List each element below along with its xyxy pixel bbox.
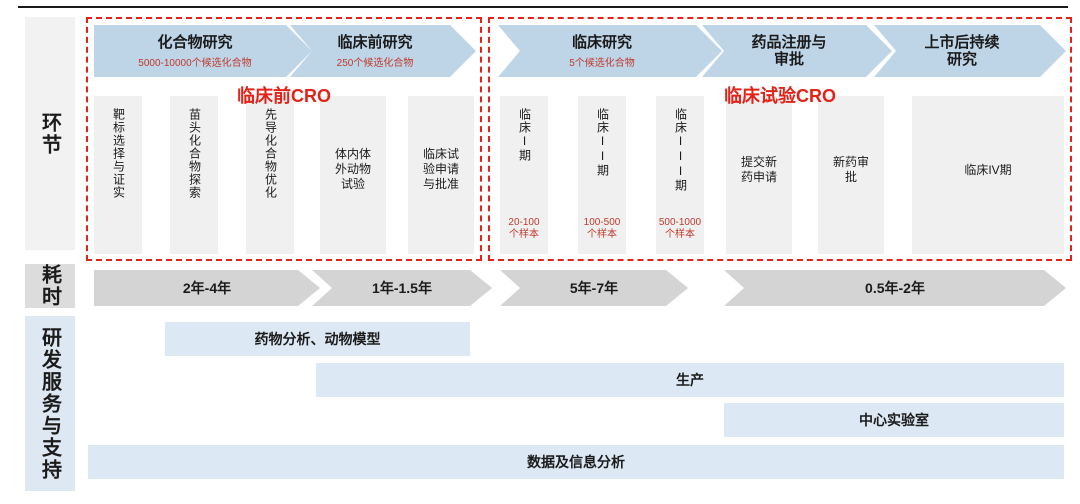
row-label-stages-text: 环节 <box>36 112 65 156</box>
service-bar-manufacturing[interactable]: 生产 <box>316 363 1064 397</box>
step-phase-3-sample-note: 500-1000 个样本 <box>648 217 712 241</box>
step-lead-optimization[interactable]: 先导化合物优化 <box>246 108 294 248</box>
step-phase-1[interactable]: 临床I期 <box>500 108 548 162</box>
top-divider-line <box>18 6 1068 8</box>
step-animal-testing[interactable]: 体内体 外动物 试验 <box>320 147 386 192</box>
step-phase-2-sample-note: 100-500 个样本 <box>572 217 632 241</box>
stage-title-preclinical-research: 临床前研究 <box>337 34 412 51</box>
step-animal-testing-line3: 试验 <box>341 177 365 191</box>
service-label-data-analysis: 数据及信息分析 <box>527 452 625 472</box>
step-nda-approval[interactable]: 新药审 批 <box>818 155 884 185</box>
step-phase-1-label: 临床I期 <box>517 108 532 162</box>
process-diagram: 环节 耗时 研发服务与支持 化合物研究 5000-10000个候选化合物 临床前… <box>0 0 1080 504</box>
stage-arrow-post-market[interactable]: 上市后持续 研究 <box>874 25 1066 77</box>
duration-arrow-preclinical[interactable]: 1年-1.5年 <box>312 270 492 306</box>
duration-arrow-clinical[interactable]: 5年-7年 <box>500 270 688 306</box>
stage-title-clinical-research: 临床研究 <box>572 34 632 51</box>
step-nda-submission-line1: 提交新 <box>741 155 777 169</box>
step-phase-1-sample-range: 20-100 <box>508 217 539 228</box>
step-lead-optimization-label: 先导化合物优化 <box>263 108 278 199</box>
step-target-selection[interactable]: 靶标选择与证实 <box>94 108 142 248</box>
step-phase-3-label: 临床III期 <box>673 108 688 192</box>
row-label-duration-text: 耗时 <box>36 264 65 308</box>
step-phase-2-sample-unit: 个样本 <box>587 229 617 240</box>
step-ind-application-line1: 临床试 <box>423 147 459 161</box>
duration-label-clinical: 5年-7年 <box>570 278 618 298</box>
step-hit-discovery[interactable]: 苗头化合物探索 <box>170 108 218 248</box>
stage-arrow-compound-research[interactable]: 化合物研究 5000-10000个候选化合物 <box>94 25 312 77</box>
step-phase-2-label: 临床II期 <box>595 108 610 177</box>
step-phase-1-sample-unit: 个样本 <box>509 229 539 240</box>
step-phase-2[interactable]: 临床II期 <box>578 108 626 177</box>
stage-title-post-market-line2: 研究 <box>947 51 977 68</box>
service-bar-data-analysis[interactable]: 数据及信息分析 <box>88 445 1064 479</box>
row-label-services-text: 研发服务与支持 <box>36 327 65 481</box>
service-label-drug-analysis: 药物分析、动物模型 <box>255 329 381 349</box>
step-nda-submission-line2: 药申请 <box>741 170 777 184</box>
step-target-selection-label: 靶标选择与证实 <box>111 108 126 199</box>
stage-subtitle-compound-research: 5000-10000个候选化合物 <box>138 54 251 69</box>
stage-title-drug-registration-line1: 药品注册与 <box>751 34 826 51</box>
step-phase-3-sample-unit: 个样本 <box>665 229 695 240</box>
cro-label-clinical: 临床试验CRO <box>488 82 1072 108</box>
stage-title-drug-registration-line2: 审批 <box>774 51 804 68</box>
step-phase-3-sample-range: 500-1000 <box>659 217 701 228</box>
step-phase-1-sample-note: 20-100 个样本 <box>496 217 552 241</box>
step-animal-testing-line1: 体内体 <box>335 147 371 161</box>
service-label-manufacturing: 生产 <box>676 370 704 390</box>
duration-label-compound-research: 2年-4年 <box>183 278 231 298</box>
step-hit-discovery-label: 苗头化合物探索 <box>187 108 202 199</box>
step-phase-4[interactable]: 临床IV期 <box>912 163 1064 178</box>
cro-label-preclinical: 临床前CRO <box>86 82 482 108</box>
duration-label-preclinical: 1年-1.5年 <box>372 278 432 298</box>
step-nda-approval-line1: 新药审 <box>833 155 869 169</box>
row-label-stages: 环节 <box>25 17 75 250</box>
row-label-services: 研发服务与支持 <box>25 316 75 491</box>
stage-arrow-drug-registration[interactable]: 药品注册与 审批 <box>702 25 892 77</box>
service-label-central-lab: 中心实验室 <box>859 410 929 430</box>
duration-arrow-registration[interactable]: 0.5年-2年 <box>724 270 1066 306</box>
step-phase-3[interactable]: 临床III期 <box>656 108 704 192</box>
stage-arrow-clinical-research[interactable]: 临床研究 5个候选化合物 <box>498 25 722 77</box>
stage-arrow-preclinical-research[interactable]: 临床前研究 250个候选化合物 <box>290 25 476 77</box>
row-label-duration: 耗时 <box>25 264 75 308</box>
duration-label-registration: 0.5年-2年 <box>865 278 925 298</box>
stage-subtitle-clinical-research: 5个候选化合物 <box>569 54 635 69</box>
step-nda-submission[interactable]: 提交新 药申请 <box>726 155 792 185</box>
step-phase-4-label: 临床IV期 <box>964 163 1011 178</box>
stage-title-compound-research: 化合物研究 <box>157 34 232 51</box>
service-bar-central-lab[interactable]: 中心实验室 <box>724 403 1064 437</box>
step-animal-testing-line2: 外动物 <box>335 162 371 176</box>
step-nda-approval-line2: 批 <box>845 170 857 184</box>
service-bar-drug-analysis[interactable]: 药物分析、动物模型 <box>165 322 470 356</box>
step-ind-application-line3: 与批准 <box>423 177 459 191</box>
stage-subtitle-preclinical-research: 250个候选化合物 <box>337 54 414 69</box>
step-ind-application-line2: 验申请 <box>423 162 459 176</box>
step-phase-2-sample-range: 100-500 <box>584 217 621 228</box>
duration-arrow-compound-research[interactable]: 2年-4年 <box>94 270 320 306</box>
stage-title-post-market-line1: 上市后持续 <box>924 34 999 51</box>
step-ind-application[interactable]: 临床试 验申请 与批准 <box>408 147 474 192</box>
